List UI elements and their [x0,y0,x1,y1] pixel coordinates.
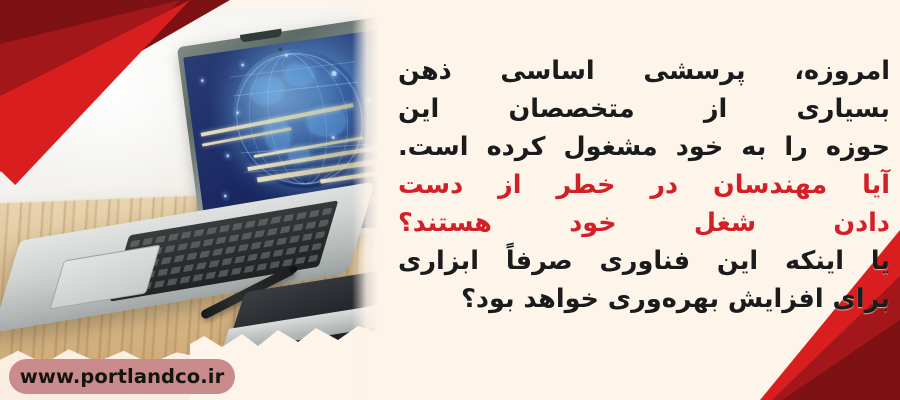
headline-line-6: یا اینکه این فناوری صرفاً ابزاری [398,242,890,280]
website-url-label: www.portlandco.ir [20,365,225,388]
headline-line-3: حوزه را به خود مشغول کرده است. [398,128,890,166]
headline-line-1: امروزه، پرسشی اساسی ذهن [398,52,890,90]
headline-line-7: برای افزایش بهره‌وری خواهد بود؟ [398,280,890,318]
laptop-notch [239,29,281,43]
promo-banner: امروزه، پرسشی اساسی ذهن بسیاری از متخصصا… [0,0,900,400]
headline-line-2: بسیاری از متخصصان این [398,90,890,128]
website-url-badge[interactable]: www.portlandco.ir [9,359,235,394]
photo-fade-right [352,0,378,400]
headline-line-5: دادن شغل خود هستند؟ [398,204,890,242]
headline-text-block: امروزه، پرسشی اساسی ذهن بسیاری از متخصصا… [398,52,890,318]
headline-line-4: آیا مهندسان در خطر از دست [398,166,890,204]
